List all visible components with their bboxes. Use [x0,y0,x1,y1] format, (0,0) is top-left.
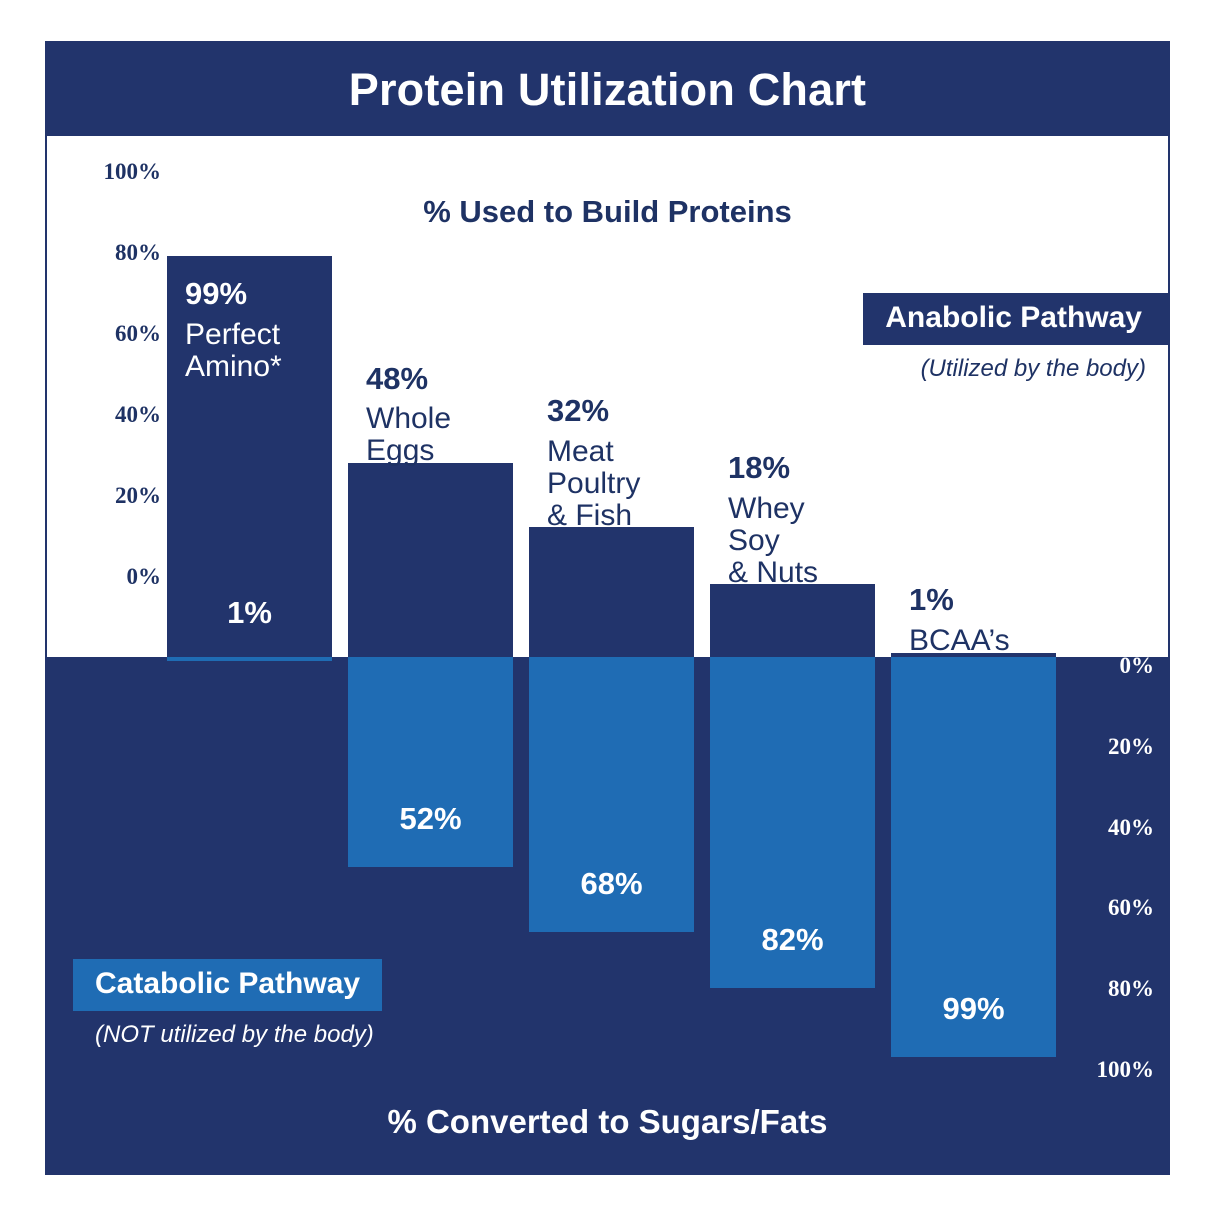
right-axis-tick: 80% [1108,976,1154,1002]
upper-plot-region: % Used to Build Proteins [47,136,1168,657]
catabolic-pathway-badge: Catabolic Pathway [73,959,382,1011]
anabolic-pathway-callout: Anabolic Pathway (Utilized by the body) [863,293,1168,383]
right-axis-tick: 40% [1108,815,1154,841]
top-axis-title: % Used to Build Proteins [47,194,1168,230]
bottom-axis-title: % Converted to Sugars/Fats [47,1103,1168,1141]
catabolic-pathway-callout: Catabolic Pathway (NOT utilized by the b… [73,959,382,1049]
left-axis: 100%80%60%40%20%0% [65,172,161,577]
left-axis-tick: 0% [127,564,162,590]
left-axis-tick: 20% [115,483,161,509]
left-axis-tick: 60% [115,321,161,347]
chart-header: Protein Utilization Chart [47,43,1168,136]
right-axis-tick: 60% [1108,895,1154,921]
right-axis: 0%20%40%60%80%100% [1058,666,1154,1070]
right-axis-tick: 0% [1120,653,1155,679]
lower-plot-region: % Converted to Sugars/Fats [47,657,1168,1173]
right-axis-tick: 20% [1108,734,1154,760]
chart-frame: Protein Utilization Chart % Used to Buil… [45,41,1170,1175]
anabolic-pathway-badge: Anabolic Pathway [863,293,1168,345]
chart-page: Protein Utilization Chart % Used to Buil… [0,0,1214,1214]
page-title: Protein Utilization Chart [349,67,867,112]
right-axis-tick: 100% [1097,1057,1155,1083]
left-axis-tick: 100% [104,159,162,185]
catabolic-pathway-note: (NOT utilized by the body) [73,1021,382,1049]
left-axis-tick: 80% [115,240,161,266]
anabolic-pathway-note: (Utilized by the body) [863,355,1168,383]
left-axis-tick: 40% [115,402,161,428]
